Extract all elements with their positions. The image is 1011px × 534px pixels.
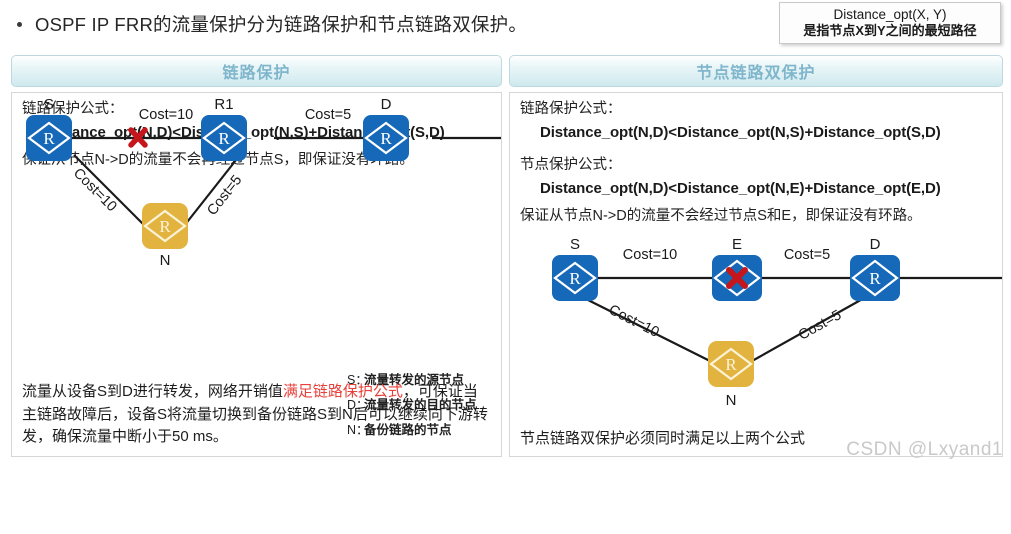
bullet-text: OSPF IP FRR的流量保护分为链路保护和节点链路双保护。: [35, 11, 527, 37]
node-link-dual-protection-panel: 节点链路双保护 链路保护公式： Distance_opt(N,D)<Distan…: [509, 55, 1003, 457]
cost-label-r1-d: Cost=5: [305, 107, 351, 123]
node-e: [712, 255, 762, 301]
node-s-label: S: [570, 236, 580, 253]
node-d-label: D: [870, 236, 881, 253]
cost-label-n-r1: Cost=5: [204, 172, 245, 218]
svg-text:R: R: [218, 129, 230, 148]
node-r1-label: R1: [214, 96, 233, 113]
distance-opt-callout: Distance_opt(X, Y) 是指节点X到Y之间的最短路径: [779, 2, 1001, 44]
link-protection-title: 链路保护: [222, 59, 290, 83]
callout-line-1: Distance_opt(X, Y): [833, 7, 946, 23]
node-n: R: [142, 203, 188, 249]
svg-text:R: R: [569, 269, 581, 288]
bullet-dot-icon: [17, 22, 22, 27]
link-protection-body: 链路保护公式： Distance_opt(N,D)<Distance_opt(N…: [11, 92, 502, 457]
cost-label-e-d: Cost=5: [784, 247, 830, 263]
node-n-label: N: [726, 392, 737, 409]
svg-text:R: R: [43, 129, 55, 148]
cost-label-s-n: Cost=10: [606, 302, 662, 341]
cost-label-s-n: Cost=10: [70, 165, 120, 215]
link-protection-header: 链路保护: [11, 55, 502, 87]
node-s: R: [552, 255, 598, 301]
node-r1: R: [201, 115, 247, 161]
right-formula-1: Distance_opt(N,D)<Distance_opt(N,S)+Dist…: [540, 124, 941, 141]
left-bottom-part1: 流量从设备S到D进行转发，网络开销值: [22, 383, 283, 400]
right-formula-title-2: 节点保护公式：: [520, 155, 622, 176]
node-d: R: [850, 255, 900, 301]
svg-text:R: R: [869, 269, 881, 288]
left-bottom-paragraph: 流量从设备S到D进行转发，网络开销值满足链路保护公式，可保证当主链路故障后，设备…: [22, 381, 492, 449]
node-n: R: [708, 341, 754, 387]
node-link-dual-protection-header: 节点链路双保护: [509, 55, 1003, 87]
right-network-diagram: R S E R D: [510, 233, 1002, 443]
node-link-dual-protection-title: 节点链路双保护: [696, 59, 815, 83]
right-explain: 保证从节点N->D的流量不会经过节点S和E，即保证没有环路。: [520, 206, 922, 227]
cost-label-n-d: Cost=5: [796, 307, 844, 343]
node-d-label: D: [381, 96, 392, 113]
right-formula-title-1: 链路保护公式：: [520, 99, 622, 120]
svg-text:R: R: [380, 129, 392, 148]
node-d: R: [363, 115, 409, 161]
svg-text:R: R: [159, 217, 171, 236]
cost-label-s-e: Cost=10: [623, 247, 677, 263]
cost-label-s-r1: Cost=10: [139, 107, 193, 123]
node-n-label: N: [160, 252, 171, 269]
right-formula-2: Distance_opt(N,D)<Distance_opt(N,E)+Dist…: [540, 180, 941, 197]
svg-text:R: R: [725, 355, 737, 374]
callout-line-2: 是指节点X到Y之间的最短路径: [803, 23, 976, 39]
node-e-label: E: [732, 236, 742, 253]
node-link-dual-protection-body: 链路保护公式： Distance_opt(N,D)<Distance_opt(N…: [509, 92, 1003, 457]
left-bottom-highlight: 满足链路保护公式: [283, 383, 403, 400]
node-s-label: S: [44, 96, 54, 113]
node-s: R: [26, 115, 72, 161]
link-protection-panel: 链路保护 链路保护公式： Distance_opt(N,D)<Distance_…: [11, 55, 502, 457]
right-bottom-text: 节点链路双保护必须同时满足以上两个公式: [520, 427, 805, 448]
left-network-diagram: R S R R1 R D R N: [12, 93, 501, 293]
